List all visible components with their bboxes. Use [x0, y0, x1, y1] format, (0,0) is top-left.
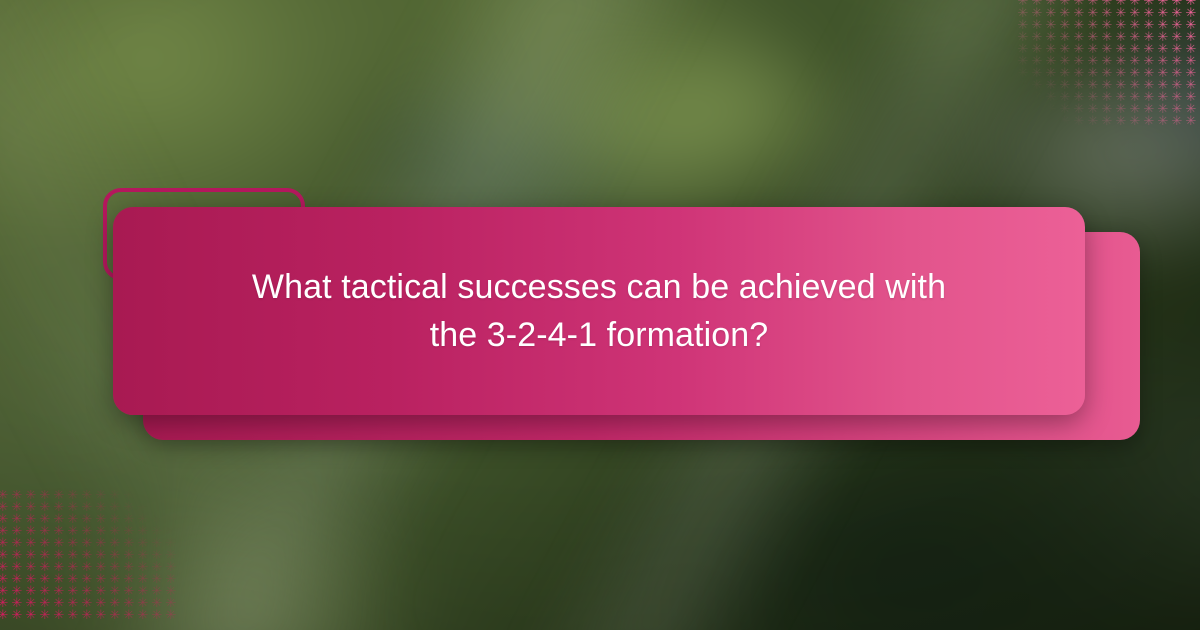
halftone-dot: ✳	[1030, 116, 1044, 128]
headline-line-1: What tactical successes can be achieved …	[252, 263, 946, 311]
page-title: What tactical successes can be achieved …	[252, 263, 946, 360]
halftone-dot: ✳	[108, 610, 122, 622]
halftone-dot: ✳	[122, 610, 136, 622]
halftone-dots-top-right: ✳✳✳✳✳✳✳✳✳✳✳✳✳ ✳✳✳✳✳✳✳✳✳✳✳✳✳ ✳✳✳✳✳✳✳✳✳✳✳✳…	[1016, 0, 1200, 136]
halftone-dot: ✳	[1184, 116, 1198, 128]
halftone-dot: ✳	[94, 610, 108, 622]
halftone-dot: ✳	[164, 610, 178, 622]
halftone-dot: ✳	[52, 610, 66, 622]
halftone-dot: ✳	[1016, 116, 1030, 128]
halftone-dot: ✳	[1044, 116, 1058, 128]
halftone-dot: ✳	[1100, 116, 1114, 128]
halftone-dot: ✳	[1058, 116, 1072, 128]
halftone-dot: ✳	[1156, 116, 1170, 128]
halftone-dots-bottom-left: ✳✳✳✳✳✳✳✳✳✳✳✳✳ ✳✳✳✳✳✳✳✳✳✳✳✳✳ ✳✳✳✳✳✳✳✳✳✳✳✳…	[0, 490, 186, 630]
halftone-dot: ✳	[1128, 116, 1142, 128]
halftone-dot: ✳	[80, 610, 94, 622]
halftone-dot: ✳	[1170, 116, 1184, 128]
halftone-dot: ✳	[1086, 116, 1100, 128]
halftone-dot: ✳	[24, 610, 38, 622]
card-stack: What tactical successes can be achieved …	[103, 185, 1103, 443]
social-card-canvas: ✳✳✳✳✳✳✳✳✳✳✳✳✳ ✳✳✳✳✳✳✳✳✳✳✳✳✳ ✳✳✳✳✳✳✳✳✳✳✳✳…	[0, 0, 1200, 630]
halftone-dot: ✳	[0, 610, 10, 622]
halftone-dot: ✳	[1142, 116, 1156, 128]
halftone-dot: ✳	[1072, 116, 1086, 128]
halftone-dot: ✳	[38, 610, 52, 622]
halftone-dot: ✳	[1114, 116, 1128, 128]
halftone-dot: ✳	[10, 610, 24, 622]
halftone-dot: ✳	[150, 610, 164, 622]
halftone-dot: ✳	[66, 610, 80, 622]
halftone-dot: ✳	[136, 610, 150, 622]
headline-line-2: the 3-2-4-1 formation?	[252, 311, 946, 359]
headline-card: What tactical successes can be achieved …	[113, 207, 1085, 415]
